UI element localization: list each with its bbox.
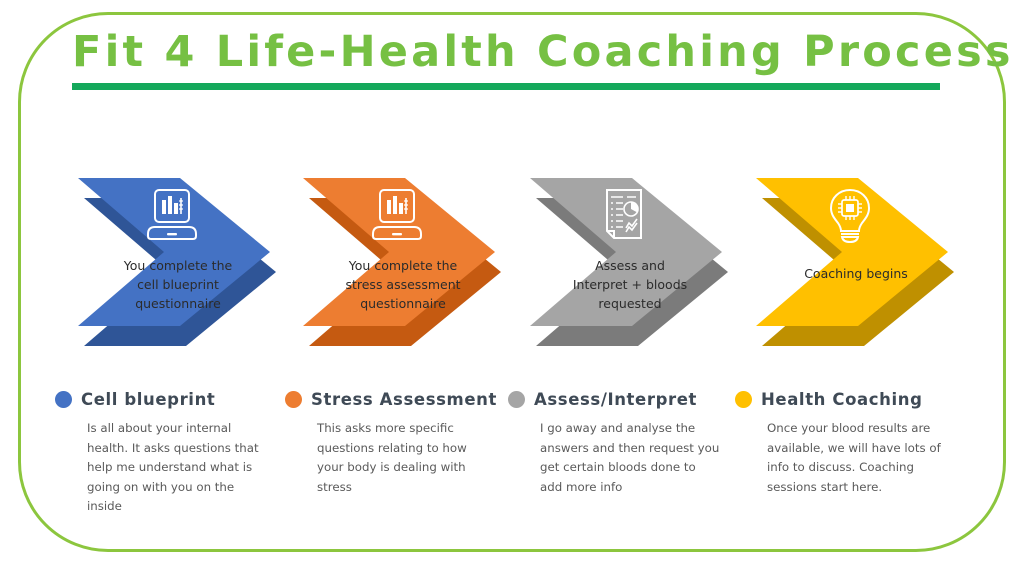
chevron-label: You complete the cell blueprint question… xyxy=(98,256,258,313)
legend-heading: Health Coaching xyxy=(735,386,963,412)
legend-heading: Assess/Interpret xyxy=(508,386,736,412)
legend-item-cell-blueprint: Cell blueprint Is all about your interna… xyxy=(55,386,283,517)
legend-row: Cell blueprint Is all about your interna… xyxy=(0,386,1024,536)
legend-bullet-icon xyxy=(285,391,302,408)
process-step-cell-blueprint[interactable]: You complete the cell blueprint question… xyxy=(60,160,288,360)
legend-description: Is all about your internal health. It as… xyxy=(87,419,267,517)
legend-title: Health Coaching xyxy=(761,390,923,409)
legend-item-assess-interpret: Assess/Interpret I go away and analyse t… xyxy=(508,386,736,497)
legend-title: Cell blueprint xyxy=(81,390,215,409)
legend-item-stress-assessment: Stress Assessment This asks more specifi… xyxy=(285,386,513,497)
laptop-bar-chart-icon xyxy=(363,186,431,246)
chevron-label: You complete the stress assessment quest… xyxy=(323,256,483,313)
legend-heading: Cell blueprint xyxy=(55,386,283,412)
legend-heading: Stress Assessment xyxy=(285,386,513,412)
legend-title: Stress Assessment xyxy=(311,390,497,409)
process-step-stress-assessment[interactable]: You complete the stress assessment quest… xyxy=(285,160,513,360)
process-step-assess-interpret[interactable]: Assess and Interpret + bloods requested xyxy=(512,160,740,360)
legend-description: Once your blood results are available, w… xyxy=(767,419,947,497)
title-underline xyxy=(72,83,940,90)
legend-description: I go away and analyse the answers and th… xyxy=(540,419,720,497)
process-step-health-coaching[interactable]: Coaching begins xyxy=(738,160,966,360)
title-block: Fit 4 Life-Health Coaching Process xyxy=(72,28,952,90)
legend-bullet-icon xyxy=(735,391,752,408)
lightbulb-chip-icon xyxy=(816,186,884,246)
legend-bullet-icon xyxy=(508,391,525,408)
report-chart-icon xyxy=(590,186,658,246)
chevron-label: Coaching begins xyxy=(776,264,936,283)
process-chevron-row: You complete the cell blueprint question… xyxy=(0,160,1024,365)
infographic-slide: Fit 4 Life-Health Coaching Process xyxy=(0,0,1024,576)
legend-title: Assess/Interpret xyxy=(534,390,697,409)
legend-description: This asks more specific questions relati… xyxy=(317,419,497,497)
page-title: Fit 4 Life-Health Coaching Process xyxy=(72,28,952,77)
chevron-label: Assess and Interpret + bloods requested xyxy=(550,256,710,313)
legend-bullet-icon xyxy=(55,391,72,408)
legend-item-health-coaching: Health Coaching Once your blood results … xyxy=(735,386,963,497)
laptop-bar-chart-icon xyxy=(138,186,206,246)
